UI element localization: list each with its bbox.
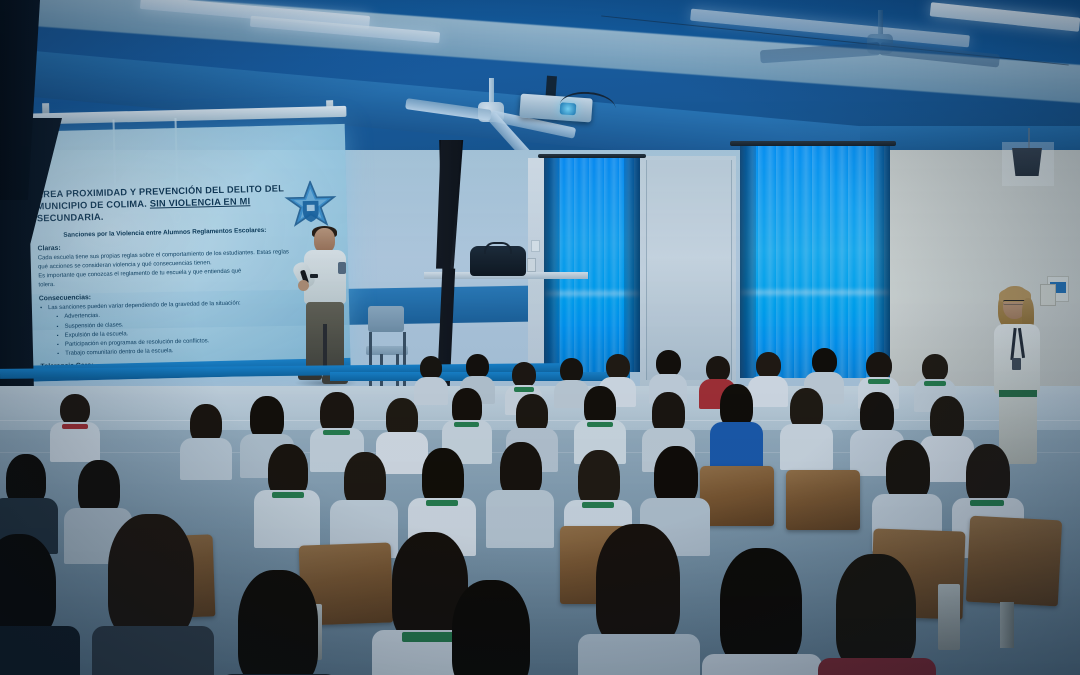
auditorium-chair[interactable] (700, 466, 774, 526)
student-body (710, 422, 763, 468)
fan-rod (878, 10, 883, 36)
student-body (180, 438, 232, 480)
uniform-shoulder-patch (338, 262, 346, 274)
slide-title-line2: MUNICIPIO DE COLIMA. (36, 199, 147, 212)
uniform-collar (868, 379, 890, 384)
uniform-collar (514, 387, 534, 392)
student-head (866, 352, 892, 380)
student-body (578, 634, 700, 675)
student-body (818, 658, 936, 675)
student-head (452, 580, 530, 675)
uniform-collar (323, 430, 350, 435)
speaker-cable (1028, 128, 1030, 150)
student-head (812, 348, 837, 375)
student-head (922, 354, 948, 382)
uniform-collar (454, 422, 479, 427)
student-body (414, 377, 448, 405)
uniform-collar (272, 492, 304, 498)
uniform-collar (587, 422, 613, 427)
student-body (254, 490, 320, 548)
window-left (544, 158, 640, 372)
student-body (780, 424, 833, 470)
fan-blade (405, 98, 492, 121)
student-head (886, 440, 930, 502)
backpack-strap (484, 242, 512, 254)
curtain-fold (740, 146, 756, 378)
student-body (702, 654, 822, 675)
audience (0, 348, 1080, 675)
uniform-collar (582, 502, 614, 508)
paper-note (531, 240, 540, 252)
student-head (756, 352, 781, 379)
student-head (720, 548, 802, 666)
chair-post (1000, 602, 1014, 648)
uniform-collar (970, 500, 1004, 506)
curtain-fold (544, 158, 560, 372)
student-head (836, 554, 916, 670)
slide-title-line3: SECUNDARIA. (37, 212, 104, 224)
curtain-fold (874, 146, 890, 378)
uniform-collar (402, 632, 458, 642)
window-curtain[interactable] (740, 146, 890, 378)
fan-blade (879, 42, 1000, 67)
presenter-hand (298, 280, 309, 291)
student-head (238, 570, 318, 675)
slide-title: AREA PROXIMIDAD Y PREVENCIÓN DEL DELITO … (36, 182, 337, 225)
student-head (0, 534, 56, 638)
student-head (596, 524, 680, 646)
wristwatch (310, 274, 318, 278)
student-body (486, 490, 554, 548)
ceiling-fan-far (770, 10, 990, 90)
chair-armrest (938, 584, 960, 650)
auditorium-chair[interactable] (966, 516, 1062, 607)
student-body (748, 376, 788, 407)
door-handle-plate[interactable] (527, 258, 536, 272)
student-head (654, 446, 698, 506)
auditorium-chair[interactable] (786, 470, 860, 530)
student-head (656, 350, 681, 377)
wall-speaker (1010, 148, 1044, 176)
uniform-collar (924, 381, 946, 386)
uniform-collar (426, 500, 458, 506)
student-head (966, 444, 1010, 506)
uniform-collar (62, 424, 88, 429)
window-right (740, 146, 890, 378)
fan-rod (489, 78, 494, 104)
student-body (0, 626, 80, 675)
chair-backrest (368, 306, 404, 332)
student-body (92, 626, 214, 675)
slide-title-line2b: SIN VIOLENCIA EN MI (150, 196, 251, 208)
photo-scene: AREA PROXIMIDAD Y PREVENCIÓN DEL DELITO … (0, 0, 1080, 675)
student-head (108, 514, 194, 638)
door-panel[interactable] (646, 160, 732, 380)
curtain-fold (624, 158, 640, 372)
fan-blade (760, 42, 881, 63)
